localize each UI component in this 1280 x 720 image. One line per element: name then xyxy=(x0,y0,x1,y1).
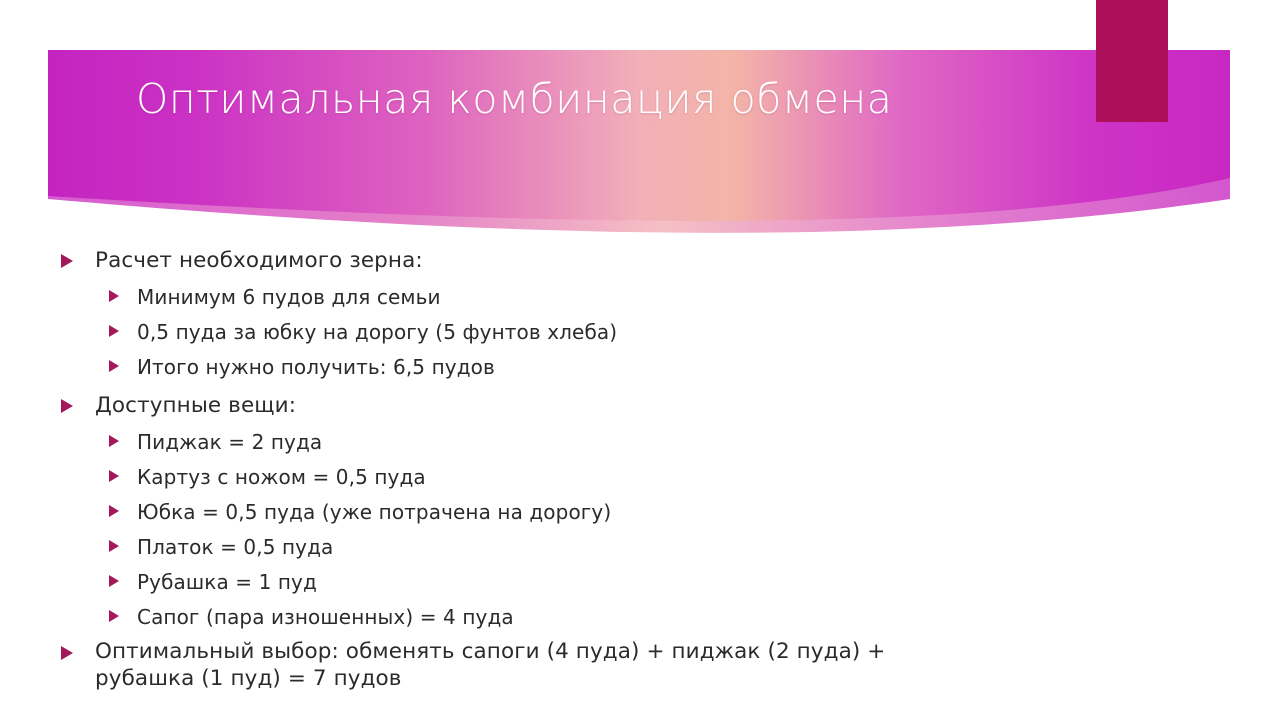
list-item[interactable]: Сапог (пара изношенных) = 4 пуда xyxy=(0,603,1280,631)
list-item[interactable]: Платок = 0,5 пуда xyxy=(0,533,1280,561)
list-item-label: Картуз с ножом = 0,5 пуда xyxy=(137,463,426,491)
list-item-label: Юбка = 0,5 пуда (уже потрачена на дорогу… xyxy=(137,498,611,526)
triangle-bullet-icon xyxy=(109,505,119,517)
triangle-bullet-icon xyxy=(109,575,119,587)
list-item-label: Расчет необходимого зерна: xyxy=(95,246,423,276)
list-item-label: Минимум 6 пудов для семьи xyxy=(137,283,441,311)
triangle-bullet-icon xyxy=(109,325,119,337)
triangle-bullet-icon xyxy=(61,646,73,660)
list-item-label: Оптимальный выбор: обменять сапоги (4 пу… xyxy=(95,638,935,692)
triangle-bullet-icon xyxy=(109,610,119,622)
list-item-label: Платок = 0,5 пуда xyxy=(137,533,333,561)
list-item-label: Доступные вещи: xyxy=(95,391,296,421)
list-item-label: 0,5 пуда за юбку на дорогу (5 фунтов хле… xyxy=(137,318,617,346)
spacer xyxy=(0,383,1280,391)
list-item[interactable]: Доступные вещи: xyxy=(0,391,1280,421)
list-item-label: Пиджак = 2 пуда xyxy=(137,428,322,456)
list-item[interactable]: 0,5 пуда за юбку на дорогу (5 фунтов хле… xyxy=(0,318,1280,346)
list-item-label: Итого нужно получить: 6,5 пудов xyxy=(137,353,495,381)
bullet-list: Расчет необходимого зерна: Минимум 6 пуд… xyxy=(0,246,1280,694)
triangle-bullet-icon xyxy=(61,399,73,413)
list-item-label: Сапог (пара изношенных) = 4 пуда xyxy=(137,603,514,631)
list-item[interactable]: Рубашка = 1 пуд xyxy=(0,568,1280,596)
list-item[interactable]: Юбка = 0,5 пуда (уже потрачена на дорогу… xyxy=(0,498,1280,526)
triangle-bullet-icon xyxy=(109,435,119,447)
list-item[interactable]: Минимум 6 пудов для семьи xyxy=(0,283,1280,311)
slide-canvas: Оптимальная комбинация обмена Расчет нео… xyxy=(0,0,1280,720)
list-item-label: Рубашка = 1 пуд xyxy=(137,568,317,596)
triangle-bullet-icon xyxy=(109,290,119,302)
list-item[interactable]: Пиджак = 2 пуда xyxy=(0,428,1280,456)
page-title: Оптимальная комбинация обмена xyxy=(136,76,1076,123)
list-item[interactable]: Расчет необходимого зерна: xyxy=(0,246,1280,276)
list-item[interactable]: Итого нужно получить: 6,5 пудов xyxy=(0,353,1280,381)
triangle-bullet-icon xyxy=(109,360,119,372)
accent-block xyxy=(1096,0,1168,122)
triangle-bullet-icon xyxy=(109,540,119,552)
triangle-bullet-icon xyxy=(61,254,73,268)
triangle-bullet-icon xyxy=(109,470,119,482)
list-item[interactable]: Картуз с ножом = 0,5 пуда xyxy=(0,463,1280,491)
list-item[interactable]: Оптимальный выбор: обменять сапоги (4 пу… xyxy=(0,638,1280,692)
